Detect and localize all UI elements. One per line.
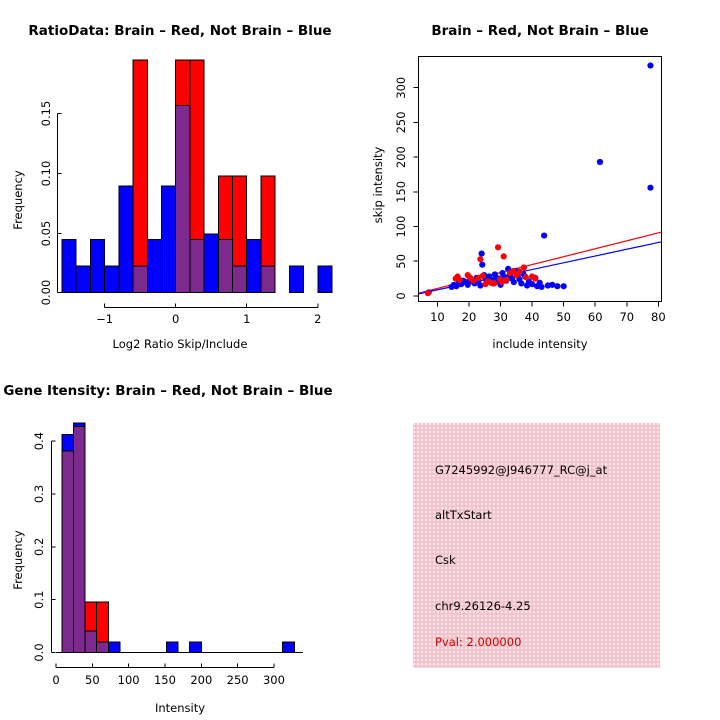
ratio-histogram-y-axis: 0.00 0.05 0.10 0.15 [39, 101, 62, 306]
gene-bar-overlap [97, 642, 109, 652]
gene-bar-blue [190, 642, 202, 652]
ratio-bar-blue [76, 266, 90, 293]
ratio-histogram-x-axis: −1012 [96, 304, 321, 327]
gene-ytick-2: 0.2 [32, 538, 46, 556]
scatter-ytick-3: 150 [394, 181, 408, 203]
gene-intensity-xlabel: Intensity [155, 701, 205, 715]
ratio-bar-overlap [261, 266, 275, 293]
scatter-plot-frame [419, 57, 662, 302]
scatter-xtick-6: 70 [619, 310, 634, 324]
figure-root: RatioData: Brain – Red, Not Brain – Blue… [0, 0, 720, 720]
scatter-xtick-4: 50 [556, 310, 571, 324]
scatter-xtick-0: 10 [430, 310, 445, 324]
scatter-point [491, 280, 497, 286]
ratio-bar-blue [204, 234, 218, 292]
ratio-bar-blue [318, 266, 332, 293]
gene-bar-overlap [62, 451, 74, 652]
gene-bar-overlap [85, 631, 97, 652]
scatter-y-axis: 050100150200250300 [394, 77, 419, 300]
ratio-xtick-2: 1 [243, 312, 250, 326]
scatter-point [456, 277, 462, 283]
scatter-ytick-5: 250 [394, 111, 408, 133]
gene-xtick-3: 150 [154, 673, 176, 687]
scatter-ytick-0: 0 [394, 292, 408, 299]
scatter-point [647, 62, 653, 68]
gene-xtick-6: 300 [263, 673, 285, 687]
probe-info-panel: G7245992@J946777_RC@j_at altTxStart Csk … [413, 423, 660, 668]
panel-intensity-scatter: Brain – Red, Not Brain – Blue 0501001502… [360, 0, 720, 360]
intensity-scatter-xlabel: include intensity [492, 337, 587, 351]
ratio-histogram-bars [62, 60, 332, 293]
scatter-xtick-5: 60 [588, 310, 603, 324]
scatter-point [503, 277, 509, 283]
panel-gene-intensity-histogram: Gene Itensity: Brain – Red, Not Brain – … [0, 360, 360, 720]
probe-id-text: G7245992@J946777_RC@j_at [435, 463, 607, 477]
gene-ytick-0: 0.0 [32, 643, 46, 661]
gene-intensity-title: Gene Itensity: Brain – Red, Not Brain – … [3, 383, 332, 399]
ratio-bar-overlap [233, 266, 247, 293]
gene-ytick-4: 0.4 [32, 432, 46, 450]
scatter-point [479, 251, 485, 257]
scatter-xtick-1: 20 [462, 310, 477, 324]
gene-ytick-1: 0.1 [32, 591, 46, 609]
intensity-scatter-svg: Brain – Red, Not Brain – Blue 0501001502… [360, 0, 720, 360]
ratio-histogram-svg: RatioData: Brain – Red, Not Brain – Blue… [0, 0, 360, 360]
gene-ytick-3: 0.3 [32, 485, 46, 503]
scatter-point [647, 185, 653, 191]
scatter-point [561, 283, 567, 289]
event-type-text: altTxStart [435, 508, 492, 522]
gene-xtick-5: 250 [227, 673, 249, 687]
ratio-xtick-0: −1 [96, 312, 113, 326]
scatter-point [495, 244, 501, 250]
scatter-point [511, 279, 517, 285]
scatter-point [597, 159, 603, 165]
ratio-bar-red [133, 60, 147, 293]
gene-bar-blue [283, 642, 295, 652]
gene-xtick-1: 50 [85, 673, 100, 687]
gene-bar-blue [108, 642, 120, 652]
ratio-ytick-2: 0.10 [39, 161, 53, 187]
ratio-histogram-xlabel: Log2 Ratio Skip/Include [113, 337, 248, 351]
ratio-bar-blue [62, 239, 76, 292]
gene-symbol-text: Csk [435, 553, 456, 567]
ratio-ytick-1: 0.05 [39, 221, 53, 247]
ratio-histogram-title: RatioData: Brain – Red, Not Brain – Blue [28, 23, 331, 39]
ratio-ytick-3: 0.15 [39, 101, 53, 127]
ratio-bar-blue [119, 186, 133, 292]
pvalue-text: Pval: 2.000000 [435, 635, 521, 649]
scatter-xtick-7: 80 [651, 310, 666, 324]
ratio-bar-blue [105, 266, 119, 293]
ratio-bar-overlap [176, 105, 190, 292]
scatter-point [532, 275, 538, 281]
scatter-point [523, 274, 529, 280]
scatter-ytick-1: 50 [394, 254, 408, 269]
ratio-bar-blue [147, 239, 161, 292]
scatter-ytick-2: 100 [394, 216, 408, 238]
gene-bar-overlap [73, 426, 85, 652]
ratio-bar-overlap [133, 266, 147, 293]
scatter-ytick-6: 300 [394, 77, 408, 99]
scatter-point [554, 283, 560, 289]
gene-xtick-4: 200 [190, 673, 212, 687]
scatter-point [480, 273, 486, 279]
intensity-scatter-title: Brain – Red, Not Brain – Blue [431, 23, 648, 39]
scatter-xtick-2: 30 [493, 310, 508, 324]
ratio-bar-blue [247, 239, 261, 292]
ratio-bar-blue [161, 186, 175, 292]
gene-intensity-x-axis: 050100150200250300 [52, 664, 285, 688]
ratio-bar-overlap [218, 239, 232, 292]
scatter-point [425, 290, 431, 296]
ratio-bar-blue [289, 266, 303, 293]
ratio-histogram-ylabel: Frequency [11, 170, 25, 230]
scatter-point [501, 253, 507, 259]
ratio-bar-overlap [190, 239, 204, 292]
ratio-xtick-1: 0 [172, 312, 179, 326]
scatter-point [518, 280, 524, 286]
gene-intensity-bars [56, 423, 303, 652]
ratio-bar-blue [90, 239, 104, 292]
scatter-point [477, 256, 483, 262]
gene-xtick-0: 0 [52, 673, 59, 687]
gene-bar-blue [166, 642, 178, 652]
scatter-ytick-4: 200 [394, 146, 408, 168]
panel-ratio-histogram: RatioData: Brain – Red, Not Brain – Blue… [0, 0, 360, 360]
ratio-ytick-0: 0.00 [39, 280, 53, 306]
genomic-locus-text: chr9.26126-4.25 [435, 599, 531, 613]
scatter-point [521, 264, 527, 270]
scatter-point [541, 232, 547, 238]
scatter-point [538, 284, 544, 290]
scatter-xtick-3: 40 [525, 310, 540, 324]
scatter-x-axis: 1020304050607080 [430, 302, 666, 325]
ratio-xtick-3: 2 [314, 312, 321, 326]
gene-intensity-ylabel: Frequency [11, 530, 25, 590]
scatter-point [479, 262, 485, 268]
gene-xtick-2: 100 [118, 673, 140, 687]
gene-intensity-y-axis: 0.00.10.20.30.4 [32, 432, 56, 662]
intensity-scatter-ylabel: skip intensity [371, 146, 385, 223]
gene-intensity-histogram-svg: Gene Itensity: Brain – Red, Not Brain – … [0, 360, 360, 720]
scatter-points [425, 62, 654, 296]
